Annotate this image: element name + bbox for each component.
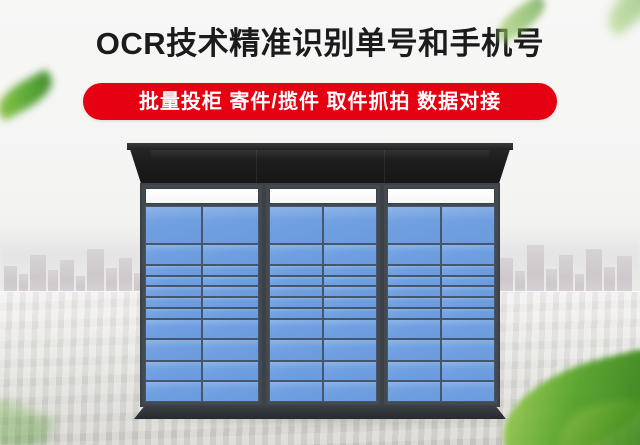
locker-door[interactable] xyxy=(202,206,259,244)
locker-door[interactable] xyxy=(387,276,441,287)
cabinet-body: . . . xyxy=(140,183,500,407)
door-row xyxy=(145,244,259,265)
locker-door[interactable] xyxy=(387,319,441,340)
door-row xyxy=(145,206,259,244)
locker-door[interactable] xyxy=(441,297,495,308)
door-grid xyxy=(269,206,377,402)
door-row xyxy=(387,265,495,276)
locker-door[interactable] xyxy=(387,206,441,244)
locker-door[interactable] xyxy=(145,265,202,276)
locker-door[interactable] xyxy=(145,361,202,382)
locker-bay-center: . . . xyxy=(264,183,382,407)
bay-header-panel xyxy=(269,188,377,204)
locker-bay-right xyxy=(382,183,500,407)
locker-door[interactable] xyxy=(269,339,323,361)
locker-door[interactable] xyxy=(202,286,259,297)
door-row xyxy=(269,286,377,297)
door-row xyxy=(145,339,259,361)
locker-door[interactable] xyxy=(323,206,377,244)
locker-door[interactable] xyxy=(323,308,377,319)
locker-door[interactable] xyxy=(269,206,323,244)
door-row xyxy=(387,206,495,244)
door-row xyxy=(269,265,377,276)
bay-header-panel xyxy=(387,188,495,204)
door-row xyxy=(387,276,495,287)
locker-door[interactable] xyxy=(387,339,441,361)
door-row xyxy=(269,381,377,402)
locker-door[interactable] xyxy=(145,297,202,308)
locker-door[interactable] xyxy=(145,381,202,402)
locker-door[interactable] xyxy=(387,286,441,297)
locker-door[interactable] xyxy=(387,265,441,276)
locker-door[interactable] xyxy=(441,286,495,297)
locker-door[interactable] xyxy=(202,244,259,265)
locker-door[interactable] xyxy=(387,381,441,402)
locker-door[interactable] xyxy=(202,319,259,340)
locker-door[interactable] xyxy=(202,381,259,402)
locker-door[interactable] xyxy=(269,308,323,319)
door-row xyxy=(145,381,259,402)
locker-door[interactable] xyxy=(269,286,323,297)
door-row xyxy=(387,381,495,402)
door-row xyxy=(269,206,377,244)
page-title: OCR技术精准识别单号和手机号 xyxy=(0,26,640,62)
locker-door[interactable] xyxy=(441,244,495,265)
door-row xyxy=(145,319,259,340)
locker-door[interactable] xyxy=(269,361,323,382)
door-row xyxy=(387,244,495,265)
door-row xyxy=(269,244,377,265)
locker-door[interactable] xyxy=(323,319,377,340)
locker-door[interactable] xyxy=(202,276,259,287)
locker-door[interactable] xyxy=(202,265,259,276)
locker-door[interactable] xyxy=(145,286,202,297)
door-row xyxy=(145,361,259,382)
locker-door[interactable] xyxy=(441,265,495,276)
door-row xyxy=(269,308,377,319)
door-row xyxy=(145,276,259,287)
door-row xyxy=(145,297,259,308)
locker-bay-left xyxy=(140,183,264,407)
door-row xyxy=(269,276,377,287)
door-row xyxy=(387,339,495,361)
door-row xyxy=(269,297,377,308)
door-row xyxy=(387,361,495,382)
door-row xyxy=(269,361,377,382)
door-row xyxy=(387,319,495,340)
locker-door[interactable] xyxy=(387,244,441,265)
bay-header-panel xyxy=(145,188,259,204)
door-row xyxy=(145,265,259,276)
door-grid xyxy=(387,206,495,402)
locker-door[interactable] xyxy=(145,319,202,340)
locker-door[interactable] xyxy=(441,339,495,361)
door-grid xyxy=(145,206,259,402)
feature-pill: 批量投柜 寄件/揽件 取件抓拍 数据对接 xyxy=(83,83,557,120)
feature-pill-label: 批量投柜 寄件/揽件 取件抓拍 数据对接 xyxy=(139,92,501,112)
locker-door[interactable] xyxy=(323,265,377,276)
door-row xyxy=(387,308,495,319)
locker-door[interactable] xyxy=(323,297,377,308)
locker-door[interactable] xyxy=(145,206,202,244)
locker-door[interactable] xyxy=(323,361,377,382)
locker-door[interactable] xyxy=(441,381,495,402)
door-row xyxy=(387,297,495,308)
locker-door[interactable] xyxy=(269,319,323,340)
locker-door[interactable] xyxy=(145,244,202,265)
locker-door[interactable] xyxy=(145,276,202,287)
locker-door[interactable] xyxy=(323,286,377,297)
locker-door[interactable] xyxy=(323,244,377,265)
promo-banner: OCR技术精准识别单号和手机号 批量投柜 寄件/揽件 取件抓拍 数据对接 xyxy=(0,0,640,445)
door-row xyxy=(269,339,377,361)
locker-door[interactable] xyxy=(202,361,259,382)
locker-door[interactable] xyxy=(387,297,441,308)
locker-door[interactable] xyxy=(323,339,377,361)
locker-door[interactable] xyxy=(441,319,495,340)
locker-door[interactable] xyxy=(269,276,323,287)
locker-door[interactable] xyxy=(387,361,441,382)
locker-door[interactable] xyxy=(441,361,495,382)
canopy-front-edge xyxy=(127,143,513,150)
door-row xyxy=(387,286,495,297)
locker-door[interactable] xyxy=(323,276,377,287)
locker-door[interactable] xyxy=(145,308,202,319)
locker-door[interactable] xyxy=(441,206,495,244)
locker-door[interactable] xyxy=(145,339,202,361)
smart-locker-cabinet: . . . xyxy=(140,143,500,417)
door-row xyxy=(269,319,377,340)
locker-door[interactable] xyxy=(202,308,259,319)
locker-door[interactable] xyxy=(269,297,323,308)
locker-door[interactable] xyxy=(387,308,441,319)
locker-door[interactable] xyxy=(269,265,323,276)
locker-door[interactable] xyxy=(202,339,259,361)
locker-door[interactable] xyxy=(441,276,495,287)
door-row xyxy=(145,308,259,319)
locker-door[interactable] xyxy=(202,297,259,308)
locker-door[interactable] xyxy=(441,308,495,319)
locker-door[interactable] xyxy=(269,381,323,402)
door-row xyxy=(145,286,259,297)
cabinet-base-plinth xyxy=(134,405,506,419)
locker-door[interactable] xyxy=(323,381,377,402)
locker-door[interactable] xyxy=(269,244,323,265)
